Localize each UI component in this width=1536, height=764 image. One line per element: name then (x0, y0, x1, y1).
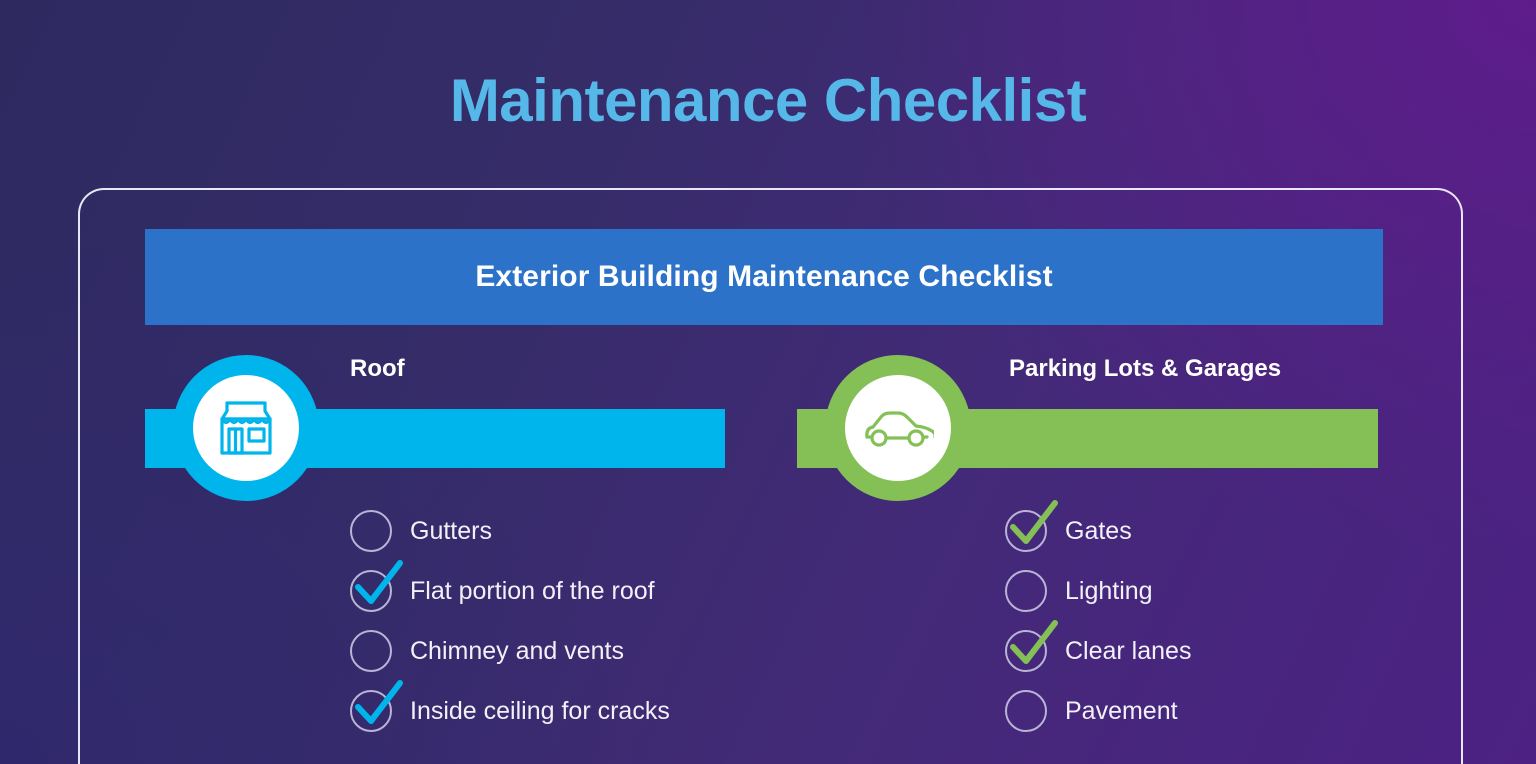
list-item[interactable]: Pavement (1005, 681, 1397, 741)
category-badge-roof (173, 355, 319, 501)
list-item[interactable]: Clear lanes (1005, 621, 1397, 681)
checkbox-checked-icon[interactable] (1005, 630, 1047, 672)
list-item-label: Gates (1065, 517, 1132, 546)
checkmark-icon (348, 557, 410, 617)
list-item-label: Clear lanes (1065, 637, 1191, 666)
checklist-roof: Gutters Flat portion of the roof Chimney… (145, 501, 745, 741)
list-item-label: Flat portion of the roof (410, 577, 655, 606)
badge-inner-circle (193, 375, 299, 481)
list-item[interactable]: Flat portion of the roof (350, 561, 745, 621)
column-roof: Roof G (145, 355, 745, 755)
page-title: Maintenance Checklist (0, 66, 1536, 135)
car-icon (862, 405, 934, 451)
checkbox-checked-icon[interactable] (350, 690, 392, 732)
category-title-parking: Parking Lots & Garages (1009, 355, 1281, 383)
checkbox-unchecked-icon[interactable] (350, 630, 392, 672)
list-item[interactable]: Inside ceiling for cracks (350, 681, 745, 741)
section-banner-label: Exterior Building Maintenance Checklist (475, 260, 1052, 294)
checkmark-icon (1003, 617, 1065, 677)
list-item[interactable]: Lighting (1005, 561, 1397, 621)
section-banner: Exterior Building Maintenance Checklist (145, 229, 1383, 325)
storefront-icon (215, 399, 277, 457)
checkbox-unchecked-icon[interactable] (350, 510, 392, 552)
infographic-canvas: Maintenance Checklist Exterior Building … (0, 0, 1536, 764)
checkmark-icon (1003, 497, 1065, 557)
list-item-label: Gutters (410, 517, 492, 546)
category-badge-parking (825, 355, 971, 501)
list-item-label: Inside ceiling for cracks (410, 697, 670, 726)
category-title-roof: Roof (350, 355, 405, 383)
checkbox-checked-icon[interactable] (350, 570, 392, 612)
list-item-label: Pavement (1065, 697, 1178, 726)
checkbox-checked-icon[interactable] (1005, 510, 1047, 552)
checkmark-icon (348, 677, 410, 737)
checkbox-unchecked-icon[interactable] (1005, 690, 1047, 732)
list-item-label: Lighting (1065, 577, 1153, 606)
column-parking: Parking Lots & Garages (797, 355, 1397, 755)
checkbox-unchecked-icon[interactable] (1005, 570, 1047, 612)
list-item[interactable]: Gates (1005, 501, 1397, 561)
badge-inner-circle (845, 375, 951, 481)
checklist-parking: Gates Lighting Clear lanes (797, 501, 1397, 741)
list-item-label: Chimney and vents (410, 637, 624, 666)
list-item[interactable]: Gutters (350, 501, 745, 561)
list-item[interactable]: Chimney and vents (350, 621, 745, 681)
